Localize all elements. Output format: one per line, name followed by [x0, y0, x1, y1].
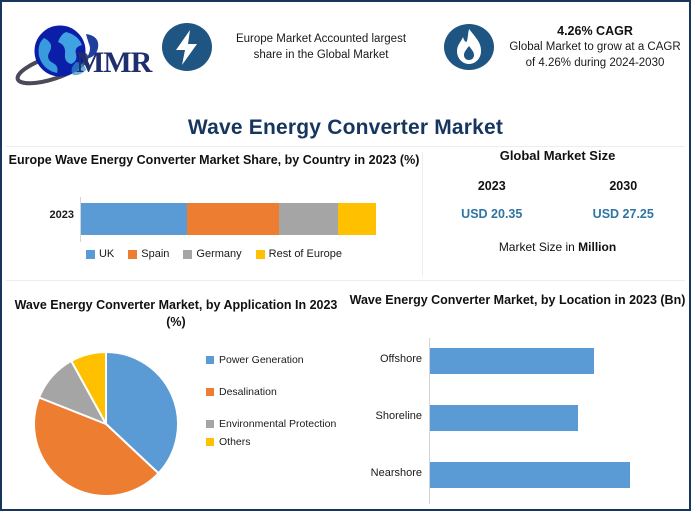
global-market-size-values: USD 20.35 USD 27.25: [426, 207, 689, 221]
legend-label: Power Generation: [219, 353, 304, 367]
europe-stacked-bar: [81, 203, 376, 235]
legend-swatch: [128, 250, 137, 259]
legend-item: Rest of Europe: [256, 248, 342, 260]
legend-label: Germany: [196, 248, 241, 260]
legend-swatch: [206, 420, 214, 428]
legend-label: Desalination: [219, 385, 277, 399]
legend-swatch: [86, 250, 95, 259]
location-bar: [430, 348, 594, 374]
legend-item: Germany: [183, 248, 241, 260]
location-label: Shoreline: [346, 410, 422, 422]
global-market-size-panel: Global Market Size 2023 2030 USD 20.35 U…: [426, 148, 689, 273]
europe-segment: [279, 203, 338, 235]
location-label: Nearshore: [346, 467, 422, 479]
infographic-frame: MMR Europe Market Accounted largest shar…: [0, 0, 691, 511]
chart-title-application: Wave Energy Converter Market, by Applica…: [6, 297, 346, 331]
highlight-europe-text: Europe Market Accounted largest share in…: [226, 31, 416, 63]
legend-label: Environmental Protection: [219, 417, 336, 431]
application-pie-plot: [28, 349, 188, 499]
highlight-cagr: 4.26% CAGR Global Market to grow at a CA…: [442, 20, 687, 74]
divider-vertical-upper: [422, 152, 423, 276]
chart-location-share: Wave Energy Converter Market, by Locatio…: [346, 292, 689, 510]
location-row: Nearshore: [346, 460, 689, 490]
top-banner: MMR Europe Market Accounted largest shar…: [2, 2, 689, 107]
global-market-size-title: Global Market Size: [426, 148, 689, 163]
chart-application-share: Wave Energy Converter Market, by Applica…: [6, 297, 346, 509]
legend-swatch: [206, 388, 214, 396]
market-size-unit-prefix: Market Size in: [499, 240, 578, 254]
market-size-unit-note: Market Size in Million: [426, 240, 689, 254]
location-bar-plot: OffshoreShorelineNearshore: [346, 338, 689, 504]
cagr-headline: 4.26% CAGR: [506, 23, 684, 39]
cagr-description: Global Market to grow at a CAGR of 4.26%…: [509, 41, 680, 69]
chart-europe-country-share: Europe Wave Energy Converter Market Shar…: [6, 152, 422, 277]
chart-title-europe: Europe Wave Energy Converter Market Shar…: [6, 152, 422, 169]
application-legend: Power GenerationDesalinationEnvironmenta…: [206, 353, 346, 467]
legend-item: Power Generation: [206, 353, 346, 367]
location-row: Shoreline: [346, 403, 689, 433]
legend-item: Environmental Protection: [206, 417, 346, 431]
global-market-size-years: 2023 2030: [426, 179, 689, 193]
divider-top: [6, 146, 685, 147]
brand-wordmark: MMR: [76, 46, 151, 80]
legend-label: Others: [219, 435, 251, 449]
legend-item: Others: [206, 435, 346, 449]
location-bar: [430, 405, 578, 431]
europe-bar-plot: 2023: [6, 197, 422, 242]
europe-segment: [338, 203, 376, 235]
location-bar: [430, 462, 630, 488]
legend-label: UK: [99, 248, 114, 260]
application-pie-svg: [28, 349, 188, 499]
legend-swatch: [183, 250, 192, 259]
europe-segment: [81, 203, 187, 235]
divider-middle: [6, 280, 685, 281]
legend-swatch: [206, 356, 214, 364]
legend-item: UK: [86, 248, 114, 260]
location-row: Offshore: [346, 346, 689, 376]
market-size-unit: Million: [578, 240, 616, 254]
highlight-europe-share: Europe Market Accounted largest share in…: [160, 20, 420, 74]
page-title: Wave Energy Converter Market: [2, 116, 689, 140]
legend-label: Spain: [141, 248, 169, 260]
location-label: Offshore: [346, 353, 422, 365]
legend-label: Rest of Europe: [269, 248, 342, 260]
legend-item: Desalination: [206, 385, 346, 399]
legend-swatch: [256, 250, 265, 259]
highlight-cagr-text: 4.26% CAGR Global Market to grow at a CA…: [506, 23, 684, 71]
legend-item: Spain: [128, 248, 169, 260]
europe-category-label: 2023: [24, 209, 74, 221]
market-size-value-2023: USD 20.35: [426, 207, 558, 221]
flame-icon: [442, 20, 496, 74]
lightning-bolt-icon: [160, 20, 214, 74]
europe-segment: [187, 203, 278, 235]
legend-swatch: [206, 438, 214, 446]
chart-title-location: Wave Energy Converter Market, by Locatio…: [346, 292, 689, 309]
market-size-year-2023: 2023: [426, 179, 558, 193]
mmr-logo: MMR: [14, 16, 154, 92]
market-size-year-2030: 2030: [558, 179, 690, 193]
europe-legend: UKSpainGermanyRest of Europe: [6, 248, 422, 260]
market-size-value-2030: USD 27.25: [558, 207, 690, 221]
